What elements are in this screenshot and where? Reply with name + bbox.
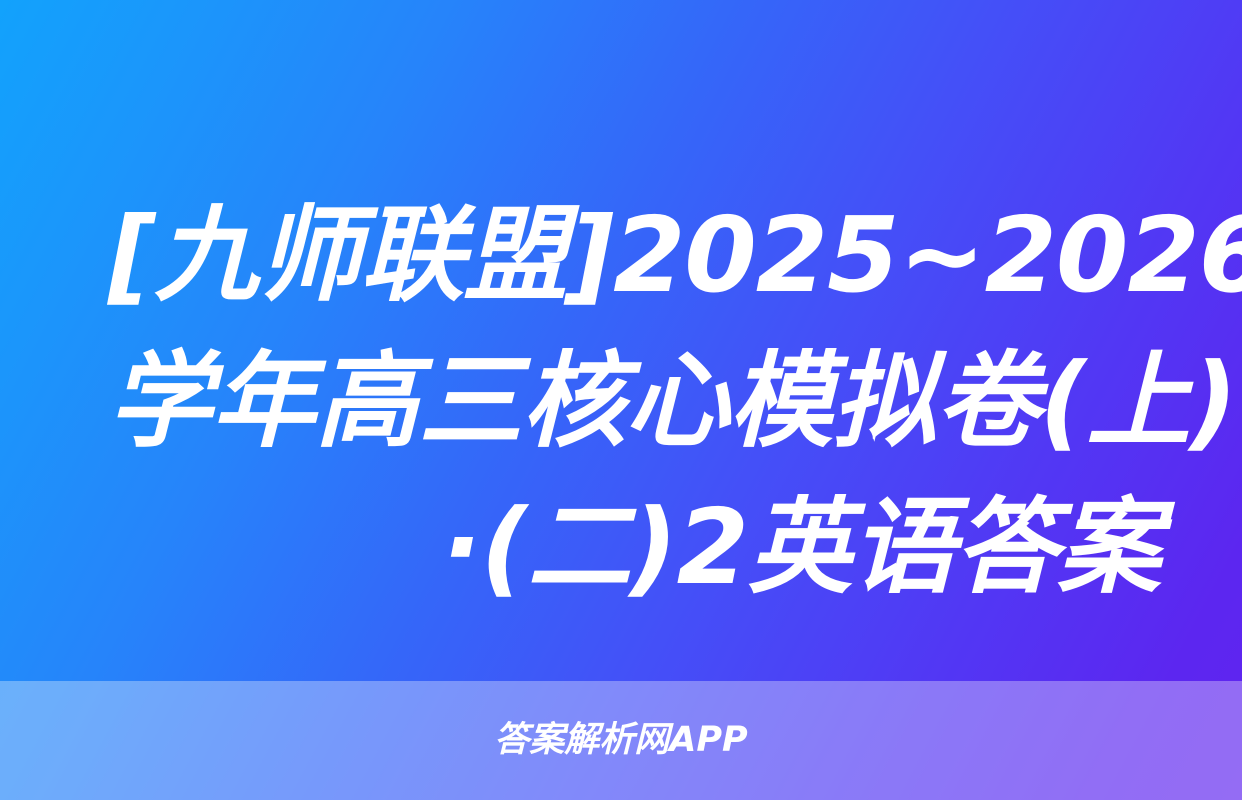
watermark-app-label: 答案解析网APP [494,723,747,758]
title-line-3: ·(二)2英语答案 [108,474,1164,620]
poster-canvas: [九师联盟]2025~2026 学年高三核心模拟卷(上) ·(二)2英语答案 答… [0,0,1242,800]
watermark-band: 答案解析网APP [0,681,1242,800]
title-block: [九师联盟]2025~2026 学年高三核心模拟卷(上) ·(二)2英语答案 [108,182,1164,642]
title-line-1: [九师联盟]2025~2026 [108,182,1164,328]
title-line-2: 学年高三核心模拟卷(上) [108,328,1164,474]
